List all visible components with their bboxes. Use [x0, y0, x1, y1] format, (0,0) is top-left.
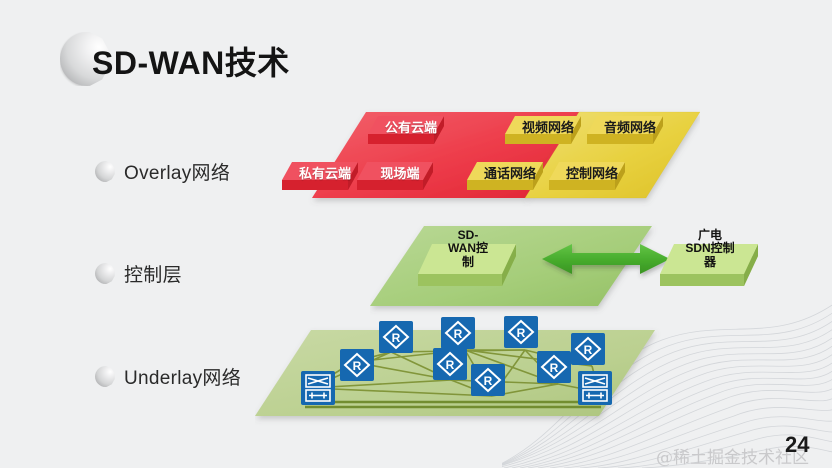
block-on-premise — [357, 158, 449, 200]
svg-text:R: R — [446, 358, 455, 372]
bullet-icon — [95, 161, 116, 182]
bullet-icon — [95, 366, 116, 387]
switch-icon-left[interactable] — [301, 371, 335, 405]
svg-text:R: R — [517, 326, 526, 340]
switch-icon-right[interactable] — [578, 371, 612, 405]
row-label-underlay: Underlay网络 — [95, 363, 241, 390]
block-audio-network — [587, 112, 679, 154]
svg-text:R: R — [550, 361, 559, 375]
bullet-icon — [95, 263, 116, 284]
block-public-cloud — [368, 112, 460, 154]
svg-text:R: R — [454, 327, 463, 341]
block-bc-sdn-controller — [660, 228, 786, 300]
row-label-control: 控制层 — [95, 260, 182, 287]
block-control-network — [549, 158, 641, 200]
router-icon-2[interactable]: R — [379, 321, 413, 353]
bidirectional-arrow-icon — [540, 242, 672, 290]
block-call-network — [467, 158, 559, 200]
router-icon-3[interactable]: R — [433, 348, 467, 380]
row-label-overlay: Overlay网络 — [95, 158, 230, 185]
router-icon-5[interactable]: R — [471, 364, 505, 396]
router-icon-1[interactable]: R — [340, 349, 374, 381]
page-number: 24 — [785, 432, 809, 458]
block-sdwan-controller — [418, 228, 544, 300]
row-label-text: Overlay网络 — [124, 158, 230, 185]
router-icon-4[interactable]: R — [441, 317, 475, 349]
router-icon-8[interactable]: R — [571, 333, 605, 365]
svg-text:R: R — [353, 359, 362, 373]
page-title: SD-WAN技术 — [92, 38, 290, 84]
block-video-network — [505, 112, 597, 154]
row-label-text: Underlay网络 — [124, 363, 241, 390]
slide-canvas: SD-WAN技术 Overlay网络 控制层 Underlay网络 — [0, 0, 832, 468]
svg-text:R: R — [392, 331, 401, 345]
router-icon-6[interactable]: R — [504, 316, 538, 348]
svg-text:R: R — [484, 374, 493, 388]
row-label-text: 控制层 — [124, 260, 182, 287]
router-icon-7[interactable]: R — [537, 351, 571, 383]
svg-text:R: R — [584, 343, 593, 357]
